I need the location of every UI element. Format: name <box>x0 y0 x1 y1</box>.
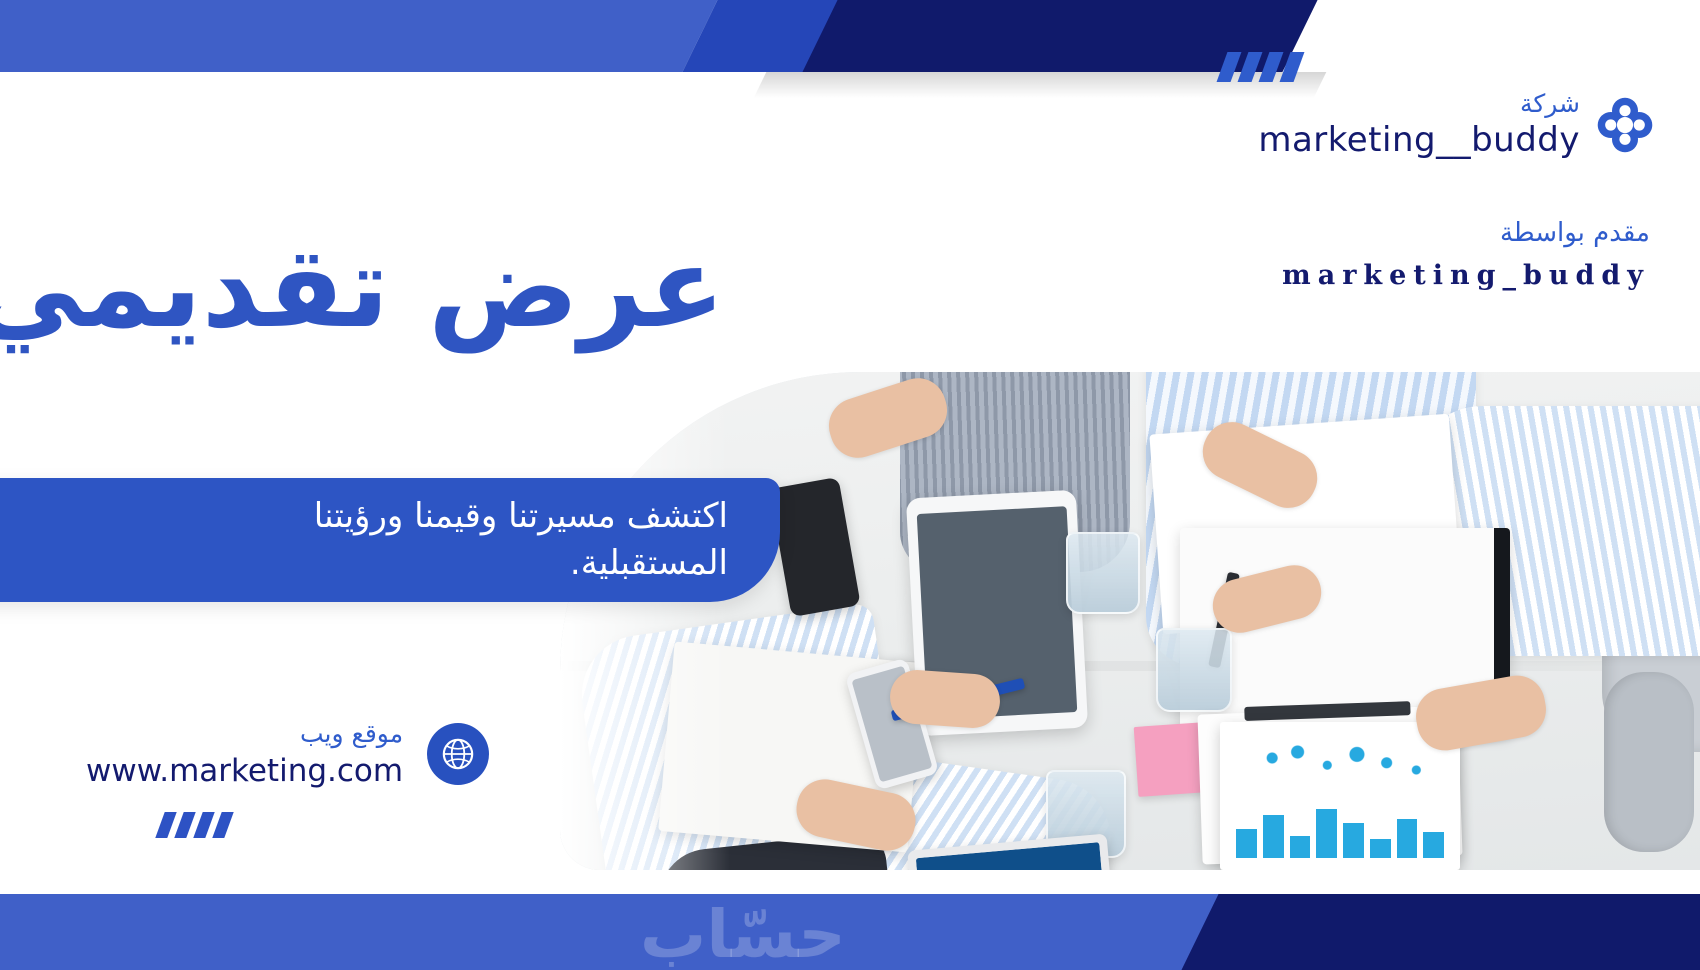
slash-marks-bottom-icon <box>160 812 1700 888</box>
globe-icon <box>427 723 489 785</box>
presented-by-label: مقدم بواسطة <box>1282 218 1650 248</box>
subtitle-banner: اكتشف مسيرتنا وقيمنا ورؤيتنا المستقبلية. <box>0 478 780 602</box>
pinwheel-rings-logo-icon <box>1594 94 1656 156</box>
presented-by-name: marketing_buddy <box>1282 260 1650 291</box>
world-map-graphic <box>1234 734 1446 794</box>
presented-by-block: مقدم بواسطة marketing_buddy <box>1282 218 1650 291</box>
footer-band-left <box>0 894 1239 970</box>
brand-kicker: شركة <box>1258 88 1580 119</box>
water-glass-2 <box>1156 628 1232 712</box>
watermark-text: حسّاب <box>640 902 846 968</box>
website-text: موقع ويب www.marketing.com <box>86 718 403 791</box>
brand-text: شركة marketing__buddy <box>1258 88 1580 162</box>
website-url[interactable]: www.marketing.com <box>86 751 403 791</box>
footer-band-right <box>1181 894 1700 970</box>
website-label: موقع ويب <box>86 718 403 751</box>
brand-name: marketing__buddy <box>1258 119 1580 162</box>
hero-photo <box>560 372 1700 870</box>
website-footer[interactable]: موقع ويب www.marketing.com <box>86 718 489 791</box>
water-glass-1 <box>1066 532 1140 614</box>
page-title: عرض تقديمي <box>65 228 725 349</box>
footer-bar: حسّاب <box>0 894 1700 970</box>
header-band-left <box>0 0 718 72</box>
slash-marks-icon <box>1222 52 1299 82</box>
hero-photo-inner <box>560 372 1700 870</box>
presentation-cover-slide: شركة marketing__buddy مقدم بواسطة market… <box>0 0 1700 970</box>
subtitle-text: اكتشف مسيرتنا وقيمنا ورؤيتنا المستقبلية. <box>188 493 780 587</box>
brand-block: شركة marketing__buddy <box>1258 88 1656 162</box>
hand-3 <box>888 668 1001 730</box>
